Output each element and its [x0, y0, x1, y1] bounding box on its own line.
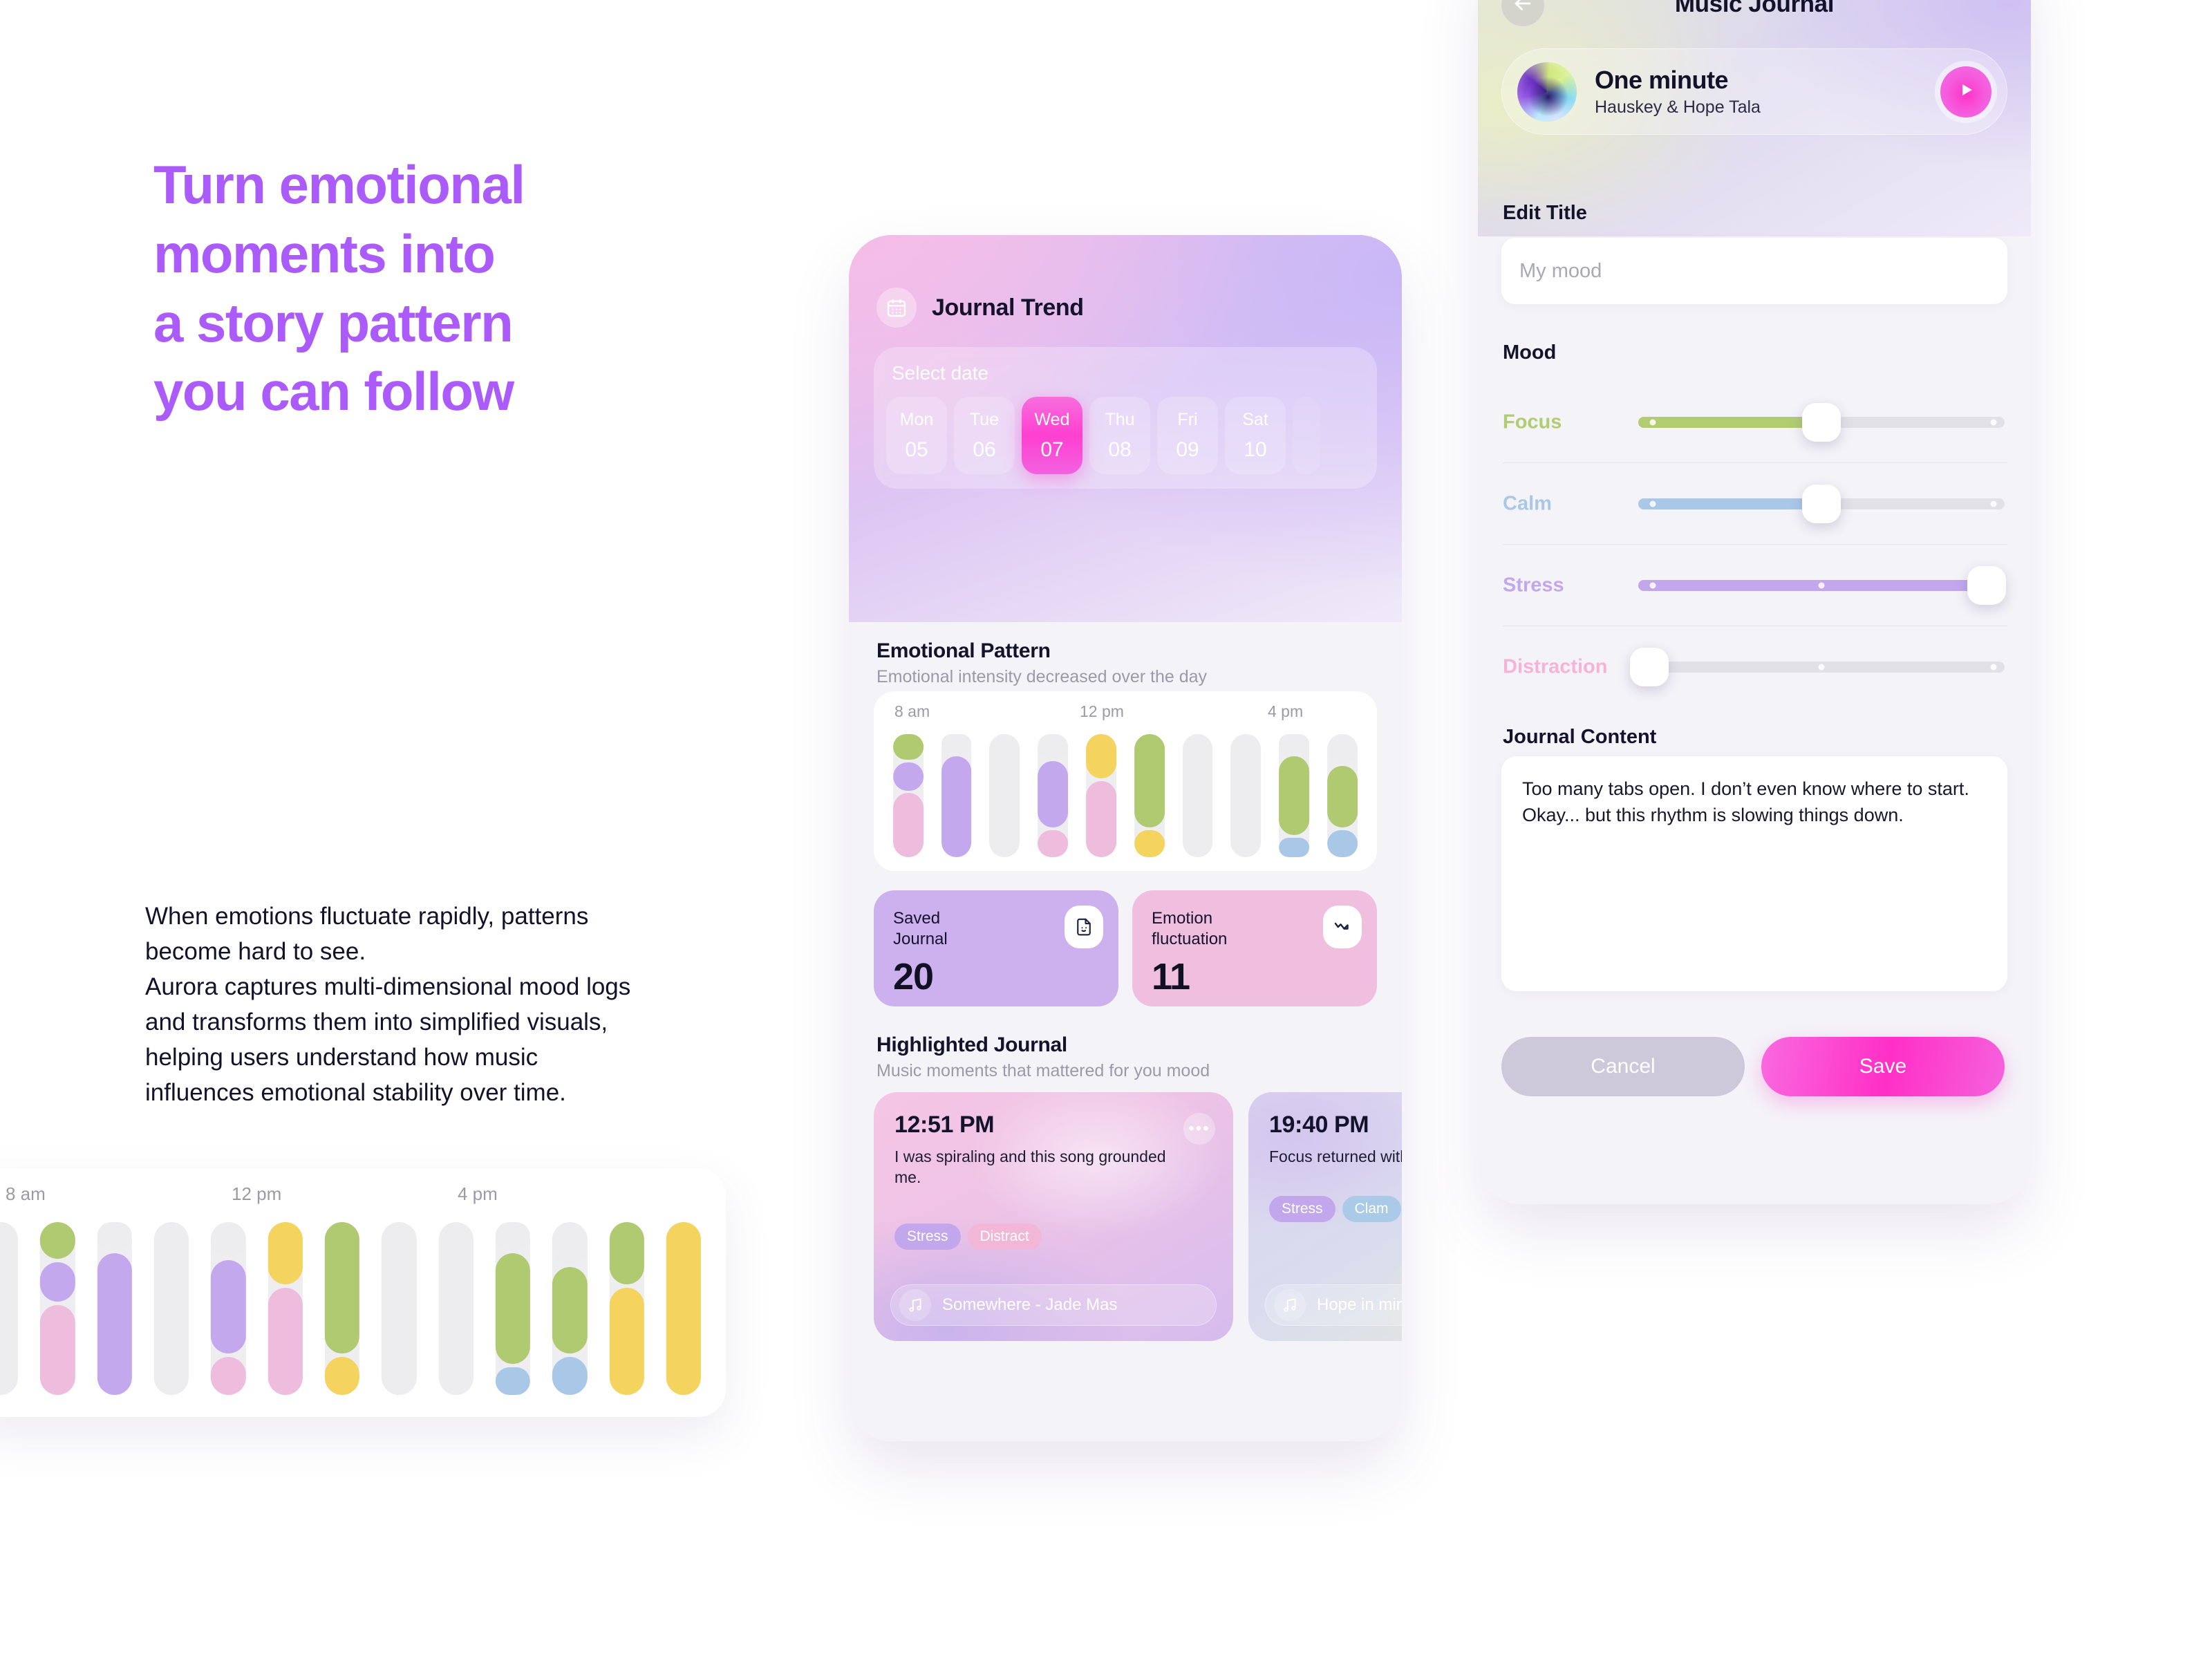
slider-label: Stress — [1503, 574, 1564, 597]
slider-track[interactable] — [1638, 498, 2005, 509]
bar-segment-focus — [1134, 734, 1165, 827]
bar-segment-empty — [154, 1222, 189, 1395]
highlighted-journal-subtitle: Music moments that mattered for you mood — [877, 1061, 1210, 1081]
date-selector-card: Select date Mon 05 Tue 06 Wed 07 Thu 08 … — [874, 347, 1377, 489]
phone-music-journal: Music Journal One minute Hauskey & Hope … — [1478, 0, 2031, 1204]
bar-segment-focus — [40, 1222, 75, 1259]
bar-column — [382, 1222, 416, 1395]
bar-column — [211, 1222, 245, 1395]
trend-down-icon[interactable] — [1323, 906, 1362, 948]
title-input[interactable]: My mood — [1501, 238, 2007, 304]
day-cell-mon[interactable]: Mon 05 — [886, 397, 947, 474]
bar-segment-calm — [552, 1357, 587, 1395]
bar-column — [1183, 734, 1213, 857]
bar-segment-focus — [552, 1267, 587, 1353]
now-playing-card[interactable]: One minute Hauskey & Hope Tala — [1501, 48, 2007, 135]
bar-segment-energy — [1134, 830, 1165, 857]
day-cell-thu[interactable]: Thu 08 — [1089, 397, 1150, 474]
journal-card-text: I was spiraling and this song grounded m… — [894, 1146, 1171, 1188]
bar-segment-empty — [439, 1222, 474, 1395]
day-number: 08 — [1108, 438, 1131, 462]
bar-segment-focus — [1279, 756, 1309, 835]
bar-column — [0, 1222, 18, 1395]
bar-column — [496, 1222, 530, 1395]
body-line: Aurora captures multi-dimensional mood l… — [145, 969, 719, 1004]
axis-tick-4pm: 4 pm — [458, 1183, 498, 1205]
slider-knob[interactable] — [1802, 403, 1841, 442]
bar-segment-empty — [1183, 734, 1213, 857]
play-button[interactable] — [1940, 66, 1991, 118]
bar-segment-empty — [1231, 734, 1262, 857]
emotional-pattern-chart-card: 8 am 12 pm 4 pm — [874, 691, 1377, 871]
bar-column — [552, 1222, 587, 1395]
bar-column — [1134, 734, 1165, 857]
day-name: Tue — [970, 410, 999, 430]
axis-tick-4pm: 4 pm — [1268, 702, 1303, 721]
play-icon — [1956, 79, 1976, 104]
mood-chip-row: StressClamFocus — [1269, 1196, 1402, 1222]
note-smile-icon[interactable] — [1065, 906, 1103, 948]
bar-column — [1038, 734, 1068, 857]
slider-row-stress: Stress — [1503, 545, 2007, 626]
bar-column — [268, 1222, 303, 1395]
slider-track[interactable] — [1638, 417, 2005, 428]
day-name: Thu — [1105, 410, 1134, 430]
day-number: 07 — [1040, 438, 1063, 462]
bar-segment-focus — [893, 734, 924, 760]
song-title: Somewhere - Jade Mas — [942, 1295, 1117, 1315]
slider-tick-start — [1650, 582, 1656, 588]
headline-line: a story pattern — [153, 289, 727, 358]
bar-segment-stress — [941, 756, 972, 857]
headline-line: moments into — [153, 220, 727, 289]
bar-column — [1327, 734, 1358, 857]
day-number: 05 — [905, 438, 928, 462]
bar-segment-focus — [496, 1253, 530, 1364]
song-pill[interactable]: Hope in mind – Jenny — [1265, 1284, 1402, 1326]
slider-track[interactable] — [1638, 580, 2005, 591]
slider-label: Calm — [1503, 492, 1552, 515]
bar-segment-calm — [496, 1367, 530, 1395]
mood-chip[interactable]: Distract — [968, 1224, 1042, 1250]
bar-segment-empty — [97, 1222, 132, 1250]
body-line: When emotions fluctuate rapidly, pattern… — [145, 899, 719, 934]
cancel-button[interactable]: Cancel — [1501, 1037, 1745, 1096]
bar-column — [1231, 734, 1262, 857]
bar-segment-focus — [325, 1222, 359, 1353]
bar-segment-empty — [941, 734, 972, 753]
slider-knob[interactable] — [1802, 485, 1841, 523]
headline-line: Turn emotional — [153, 151, 727, 220]
journal-content-label: Journal Content — [1503, 726, 1656, 749]
slider-tick-end — [1991, 500, 1997, 507]
slider-tick-start — [1650, 500, 1656, 507]
calendar-icon — [877, 288, 917, 328]
stat-card[interactable]: Emotionfluctuation 11 — [1132, 890, 1377, 1006]
slider-tick-end — [1991, 419, 1997, 425]
bar-column — [325, 1222, 359, 1395]
mood-slider-group: Focus Calm Stress — [1503, 382, 2007, 708]
axis-tick-12pm: 12 pm — [1080, 702, 1124, 721]
emotional-pattern-heading-block: Emotional Pattern Emotional intensity de… — [877, 639, 1207, 687]
bar-segment-empty — [552, 1222, 587, 1264]
bar-segment-energy — [1086, 734, 1116, 778]
phone-journal-trend: Journal Trend Select date Mon 05 Tue 06 … — [849, 235, 1402, 1441]
day-name: Wed — [1035, 410, 1070, 430]
title-input-placeholder: My mood — [1519, 260, 1602, 283]
slider-row-focus: Focus — [1503, 382, 2007, 463]
bar-column — [893, 734, 924, 857]
edit-title-label: Edit Title — [1503, 202, 1587, 225]
slider-tick-mid — [1819, 664, 1825, 671]
slider-row-distraction: Distraction — [1503, 626, 2007, 708]
highlighted-journal-heading-block: Highlighted Journal Music moments that m… — [877, 1033, 1210, 1081]
day-name: Fri — [1177, 410, 1197, 430]
bar-segment-empty — [382, 1222, 416, 1395]
page-title: Journal Trend — [932, 294, 1084, 321]
bar-segment-energy — [666, 1222, 701, 1395]
album-art — [1517, 62, 1577, 122]
body-line: helping users understand how music — [145, 1040, 719, 1075]
bar-segment-empty — [1327, 734, 1358, 764]
bar-segment-stress — [1038, 761, 1068, 827]
save-button[interactable]: Save — [1761, 1037, 2005, 1096]
bar-segment-empty — [1038, 734, 1068, 759]
stat-value: 11 — [1152, 955, 1190, 998]
slider-tick-start — [1650, 419, 1656, 425]
highlighted-journal-title: Highlighted Journal — [877, 1033, 1210, 1057]
bar-segment-calm — [1279, 838, 1309, 857]
slider-track[interactable] — [1638, 662, 2005, 673]
day-name: Sat — [1242, 410, 1268, 430]
day-number: 09 — [1176, 438, 1199, 462]
slider-knob[interactable] — [1967, 566, 2006, 605]
journal-card-time: 12:51 PM — [894, 1112, 994, 1138]
slider-fill — [1638, 580, 1987, 591]
journal-card-row: 12:51 PM I was spiraling and this song g… — [874, 1092, 1402, 1341]
emotional-pattern-subtitle: Emotional intensity decreased over the d… — [877, 667, 1207, 687]
bar-segment-stress — [97, 1253, 132, 1395]
bar-segment-distraction — [211, 1357, 245, 1395]
bar-segment-energy — [609, 1288, 644, 1395]
bar-segment-stress — [40, 1262, 75, 1302]
day-cell-next[interactable] — [1293, 397, 1320, 474]
page-body-copy: When emotions fluctuate rapidly, pattern… — [145, 899, 719, 1111]
slider-label: Focus — [1503, 411, 1562, 433]
music-note-icon — [1274, 1289, 1306, 1321]
page-root: Turn emotionalmoments intoa story patter… — [0, 0, 2212, 1659]
journal-card-time: 19:40 PM — [1269, 1112, 1369, 1138]
slider-row-calm: Calm — [1503, 463, 2007, 545]
axis-tick-8am: 8 am — [6, 1183, 46, 1205]
bar-segment-stress — [211, 1260, 245, 1353]
journal-card[interactable]: 19:40 PM Focus returned within a few min… — [1248, 1092, 1402, 1341]
more-dots-icon[interactable]: ••• — [1183, 1113, 1215, 1145]
song-pill[interactable]: Somewhere - Jade Mas — [890, 1284, 1217, 1326]
bar-segment-empty — [990, 734, 1020, 857]
bar-column — [990, 734, 1020, 857]
slider-label: Distraction — [1503, 656, 1607, 679]
track-artist: Hauskey & Hope Tala — [1595, 97, 1922, 118]
slider-tick-end — [1991, 664, 1997, 671]
slider-fill — [1638, 417, 1821, 428]
chart-axis-labels: 8 am 12 pm 4 pm — [874, 702, 1377, 726]
bar-segment-stress — [893, 762, 924, 791]
bar-column — [941, 734, 972, 857]
day-number: 10 — [1244, 438, 1266, 462]
body-line: become hard to see. — [145, 934, 719, 969]
mood-label: Mood — [1503, 341, 1556, 364]
music-journal-title: Music Journal — [1478, 0, 2031, 18]
bar-plot-floating — [0, 1222, 701, 1395]
mood-chip[interactable]: Stress — [1269, 1196, 1335, 1222]
bar-segment-empty — [0, 1222, 18, 1395]
stat-label: SavedJournal — [893, 908, 1031, 950]
journal-card-text: Focus returned within a few minutes. — [1269, 1146, 1402, 1167]
bar-segment-energy — [325, 1357, 359, 1395]
stat-label: Emotionfluctuation — [1152, 908, 1290, 950]
day-name: Mon — [900, 410, 934, 430]
bar-column — [97, 1222, 132, 1395]
mood-chip-row: StressDistract — [894, 1224, 1042, 1250]
axis-tick-8am: 8 am — [894, 702, 930, 721]
bar-column — [666, 1222, 701, 1395]
bar-plot — [893, 734, 1358, 857]
bar-segment-empty — [1279, 734, 1309, 753]
journal-content-textarea[interactable]: Too many tabs open. I don’t even know wh… — [1501, 756, 2007, 991]
day-cell-sat[interactable]: Sat 10 — [1225, 397, 1286, 474]
track-title: One minute — [1595, 66, 1922, 95]
stat-value: 20 — [893, 955, 933, 998]
bar-segment-empty — [211, 1222, 245, 1257]
bar-segment-distraction — [1038, 830, 1068, 857]
emotional-pattern-chart-card-floating: 8 am 12 pm 4 pm — [0, 1168, 726, 1417]
song-title: Hope in mind – Jenny — [1317, 1295, 1402, 1315]
journal-trend-header: Journal Trend — [877, 288, 1084, 328]
select-date-label: Select date — [892, 362, 988, 384]
bar-column — [1086, 734, 1116, 857]
journal-card[interactable]: 12:51 PM I was spiraling and this song g… — [874, 1092, 1233, 1341]
day-cell-wed[interactable]: Wed 07 — [1022, 397, 1082, 474]
body-line: influences emotional stability over time… — [145, 1075, 719, 1110]
stat-card[interactable]: SavedJournal 20 — [874, 890, 1118, 1006]
bar-segment-focus — [1327, 766, 1358, 827]
slider-knob[interactable] — [1630, 648, 1669, 686]
music-note-icon — [899, 1289, 931, 1321]
bar-column — [1279, 734, 1309, 857]
body-line: and transforms them into simplified visu… — [145, 1004, 719, 1040]
bar-segment-calm — [1327, 830, 1358, 857]
day-strip[interactable]: Mon 05 Tue 06 Wed 07 Thu 08 Fri 09 Sat 1… — [886, 397, 1371, 474]
headline-line: you can follow — [153, 357, 727, 427]
action-button-row: Cancel Save — [1501, 1037, 2005, 1096]
axis-tick-12pm: 12 pm — [232, 1183, 281, 1205]
day-cell-fri[interactable]: Fri 09 — [1157, 397, 1218, 474]
bar-segment-empty — [496, 1222, 530, 1250]
stat-card-row: SavedJournal 20 Emotionfluctuation 11 — [874, 890, 1377, 1006]
day-number: 06 — [973, 438, 995, 462]
bar-segment-distraction — [268, 1288, 303, 1395]
bar-segment-distraction — [893, 793, 924, 857]
bar-segment-distraction — [40, 1305, 75, 1395]
mood-chip[interactable]: Clam — [1342, 1196, 1401, 1222]
bar-column — [439, 1222, 474, 1395]
bar-column — [40, 1222, 75, 1395]
track-meta: One minute Hauskey & Hope Tala — [1595, 66, 1922, 118]
slider-tick-mid — [1819, 582, 1825, 588]
bar-column — [609, 1222, 644, 1395]
bar-segment-distraction — [1086, 781, 1116, 857]
bar-segment-focus — [609, 1222, 644, 1284]
page-headline: Turn emotionalmoments intoa story patter… — [153, 151, 727, 427]
bar-column — [154, 1222, 189, 1395]
day-cell-tue[interactable]: Tue 06 — [954, 397, 1015, 474]
chart-axis-labels-floating: 8 am 12 pm 4 pm — [0, 1183, 726, 1208]
mood-chip[interactable]: Stress — [894, 1224, 961, 1250]
emotional-pattern-title: Emotional Pattern — [877, 639, 1207, 663]
bar-segment-energy — [268, 1222, 303, 1284]
slider-fill — [1638, 498, 1821, 509]
